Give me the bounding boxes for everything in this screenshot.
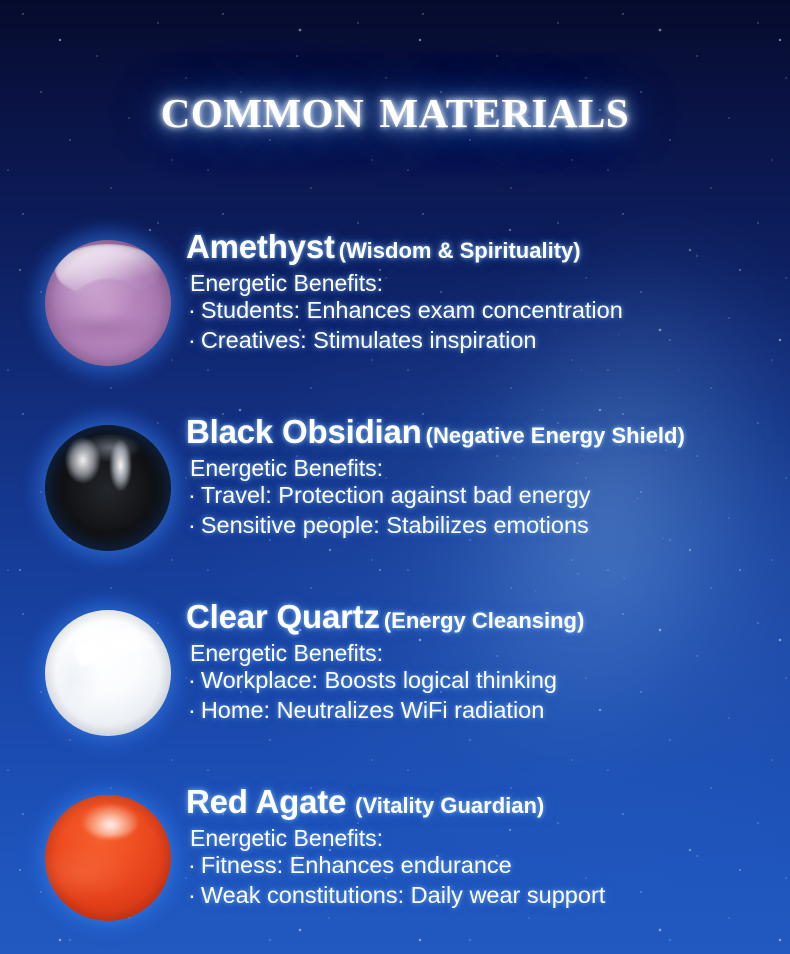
material-row: Clear Quartz(Energy Cleansing) Energetic…: [0, 598, 790, 758]
bullet-icon: ·: [188, 512, 196, 538]
material-name: Amethyst: [186, 228, 335, 265]
benefits-label: Energetic Benefits:: [190, 642, 786, 665]
material-tagline: (Vitality Guardian): [355, 793, 544, 818]
page-title: Common Materials: [0, 78, 790, 137]
list-item: ·Fitness: Enhances endurance: [188, 850, 786, 880]
list-item-label: Weak constitutions: Daily wear support: [201, 882, 605, 908]
bullet-icon: ·: [188, 297, 196, 323]
list-item-label: Fitness: Enhances endurance: [201, 852, 512, 878]
sphere-body: [45, 425, 171, 551]
sphere-body: [45, 610, 171, 736]
material-heading: Red Agate(Vitality Guardian): [186, 783, 786, 821]
material-tagline: (Energy Cleansing): [384, 608, 584, 633]
sphere-shading: [45, 425, 171, 551]
material-row: Black Obsidian(Negative Energy Shield) E…: [0, 413, 790, 573]
list-item-label: Creatives: Stimulates inspiration: [201, 327, 537, 353]
benefits-label: Energetic Benefits:: [190, 827, 786, 850]
material-tagline: (Wisdom & Spirituality): [339, 238, 581, 263]
material-heading: Black Obsidian(Negative Energy Shield): [186, 413, 786, 451]
list-item-label: Students: Enhances exam concentration: [201, 297, 623, 323]
sphere-body: [45, 240, 171, 366]
bullet-icon: ·: [188, 882, 196, 908]
list-item-label: Travel: Protection against bad energy: [201, 482, 591, 508]
material-heading: Clear Quartz(Energy Cleansing): [186, 598, 786, 636]
list-item: ·Sensitive people: Stabilizes emotions: [188, 510, 786, 540]
list-item-label: Home: Neutralizes WiFi radiation: [201, 697, 544, 723]
sphere-shading: [45, 795, 171, 921]
bullet-icon: ·: [188, 482, 196, 508]
list-item: ·Workplace: Boosts logical thinking: [188, 665, 786, 695]
amethyst-sphere: [45, 240, 171, 366]
material-row: Red Agate(Vitality Guardian) Energetic B…: [0, 783, 790, 943]
benefits-list: ·Travel: Protection against bad energy ·…: [186, 480, 786, 540]
material-text-block: Clear Quartz(Energy Cleansing) Energetic…: [186, 598, 786, 725]
bullet-icon: ·: [188, 327, 196, 353]
material-text-block: Red Agate(Vitality Guardian) Energetic B…: [186, 783, 786, 910]
benefits-list: ·Students: Enhances exam concentration ·…: [186, 295, 786, 355]
infographic-poster: Common Materials Amethyst(Wisdom & Spiri…: [0, 0, 790, 954]
black-obsidian-sphere: [45, 425, 171, 551]
bullet-icon: ·: [188, 852, 196, 878]
list-item-label: Workplace: Boosts logical thinking: [201, 667, 557, 693]
list-item: ·Home: Neutralizes WiFi radiation: [188, 695, 786, 725]
material-text-block: Black Obsidian(Negative Energy Shield) E…: [186, 413, 786, 540]
benefits-label: Energetic Benefits:: [190, 457, 786, 480]
sphere-shading: [45, 610, 171, 736]
benefits-list: ·Fitness: Enhances endurance ·Weak const…: [186, 850, 786, 910]
material-heading: Amethyst(Wisdom & Spirituality): [186, 228, 786, 266]
material-text-block: Amethyst(Wisdom & Spirituality) Energeti…: [186, 228, 786, 355]
bullet-icon: ·: [188, 667, 196, 693]
sphere-body: [45, 795, 171, 921]
bullet-icon: ·: [188, 697, 196, 723]
red-agate-sphere: [45, 795, 171, 921]
list-item: ·Creatives: Stimulates inspiration: [188, 325, 786, 355]
list-item: ·Travel: Protection against bad energy: [188, 480, 786, 510]
material-tagline: (Negative Energy Shield): [426, 423, 685, 448]
list-item: ·Weak constitutions: Daily wear support: [188, 880, 786, 910]
material-name: Red Agate: [186, 783, 346, 820]
benefits-list: ·Workplace: Boosts logical thinking ·Hom…: [186, 665, 786, 725]
page-title-text: Common Materials: [161, 78, 629, 137]
material-row: Amethyst(Wisdom & Spirituality) Energeti…: [0, 228, 790, 388]
benefits-label: Energetic Benefits:: [190, 272, 786, 295]
list-item: ·Students: Enhances exam concentration: [188, 295, 786, 325]
list-item-label: Sensitive people: Stabilizes emotions: [201, 512, 589, 538]
clear-quartz-sphere: [45, 610, 171, 736]
material-name: Clear Quartz: [186, 598, 380, 635]
sphere-shading: [45, 240, 171, 366]
material-name: Black Obsidian: [186, 413, 422, 450]
